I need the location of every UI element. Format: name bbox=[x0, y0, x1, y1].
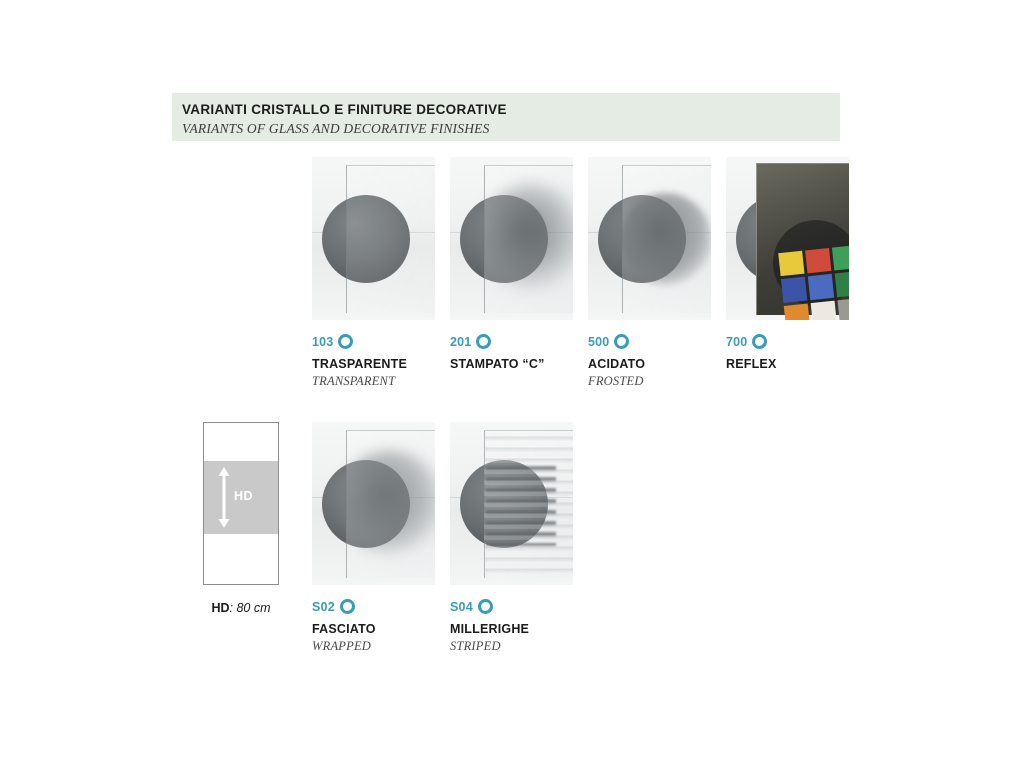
checker-swatch bbox=[835, 271, 849, 297]
checker-swatch bbox=[811, 300, 837, 320]
finish-card-201[interactable]: 201 STAMPATO “C” bbox=[450, 157, 573, 389]
sample-photo-transparent bbox=[312, 157, 435, 320]
checker-swatch bbox=[784, 303, 810, 320]
finish-name-en: FROSTED bbox=[588, 374, 711, 389]
page-subtitle: VARIANTS OF GLASS AND DECORATIVE FINISHE… bbox=[182, 119, 840, 138]
finish-code: 700 bbox=[726, 335, 747, 349]
sample-photo-reflex bbox=[726, 157, 849, 320]
finish-name-en: STRIPED bbox=[450, 639, 573, 654]
glass-drop-icon bbox=[338, 334, 353, 349]
finish-row-2: S02 FASCIATO WRAPPED S04 MIL bbox=[312, 422, 588, 654]
finish-code-line: 500 bbox=[588, 333, 711, 350]
finish-code-line: 700 bbox=[726, 333, 849, 350]
finish-card-500[interactable]: 500 ACIDATO FROSTED bbox=[588, 157, 711, 389]
glass-drop-icon bbox=[340, 599, 355, 614]
finish-code: 500 bbox=[588, 335, 609, 349]
hd-caption: HD: 80 cm bbox=[203, 601, 279, 615]
finish-code-line: 103 bbox=[312, 333, 435, 350]
checker-swatch bbox=[778, 251, 804, 277]
finish-caption: S02 FASCIATO WRAPPED bbox=[312, 598, 435, 654]
sample-photo-millerighe bbox=[450, 422, 573, 585]
hd-caption-value: : 80 cm bbox=[230, 601, 271, 615]
finish-card-s04[interactable]: S04 MILLERIGHE STRIPED bbox=[450, 422, 573, 654]
finish-caption: S04 MILLERIGHE STRIPED bbox=[450, 598, 573, 654]
page-title: VARIANTI CRISTALLO E FINITURE DECORATIVE bbox=[182, 100, 840, 119]
finish-name-it: FASCIATO bbox=[312, 622, 435, 636]
finish-name-it: ACIDATO bbox=[588, 357, 711, 371]
finish-name-en: TRANSPARENT bbox=[312, 374, 435, 389]
finish-card-103[interactable]: 103 TRASPARENTE TRANSPARENT bbox=[312, 157, 435, 389]
checker-swatch bbox=[837, 297, 849, 320]
hd-double-arrow-icon bbox=[218, 467, 230, 528]
finish-name-en bbox=[726, 374, 849, 389]
finish-code: S04 bbox=[450, 600, 473, 614]
finish-name-it: REFLEX bbox=[726, 357, 849, 371]
finish-code: 201 bbox=[450, 335, 471, 349]
finish-caption: 500 ACIDATO FROSTED bbox=[588, 333, 711, 389]
glass-drop-icon bbox=[752, 334, 767, 349]
glass-finishes-page: VARIANTI CRISTALLO E FINITURE DECORATIVE… bbox=[0, 0, 1024, 768]
glass-drop-icon bbox=[478, 599, 493, 614]
checker-swatch bbox=[808, 274, 834, 300]
diffusion-blur bbox=[480, 183, 573, 291]
finish-name-it: STAMPATO “C” bbox=[450, 357, 573, 371]
finish-code-line: S04 bbox=[450, 598, 573, 615]
finish-card-700[interactable]: 700 REFLEX bbox=[726, 157, 849, 389]
stripe-texture bbox=[484, 430, 573, 578]
glass-drop-icon bbox=[476, 334, 491, 349]
finish-name-en bbox=[450, 374, 573, 389]
hd-dimension-diagram: HD HD: 80 cm bbox=[203, 422, 279, 615]
finish-code-line: S02 bbox=[312, 598, 435, 615]
finish-caption: 700 REFLEX bbox=[726, 333, 849, 389]
finish-card-s02[interactable]: S02 FASCIATO WRAPPED bbox=[312, 422, 435, 654]
checker-swatch bbox=[805, 248, 831, 274]
hd-band-label: HD bbox=[234, 489, 253, 503]
finish-code-line: 201 bbox=[450, 333, 573, 350]
sample-photo-acidato bbox=[588, 157, 711, 320]
hd-panel-outline: HD bbox=[203, 422, 279, 585]
glass-pane-transparent bbox=[346, 165, 435, 313]
finish-name-it: MILLERIGHE bbox=[450, 622, 573, 636]
finish-caption: 103 TRASPARENTE TRANSPARENT bbox=[312, 333, 435, 389]
glass-drop-icon bbox=[614, 334, 629, 349]
checker-swatch bbox=[781, 277, 807, 303]
color-checker-chart bbox=[778, 245, 849, 320]
finish-code: S02 bbox=[312, 600, 335, 614]
finish-caption: 201 STAMPATO “C” bbox=[450, 333, 573, 389]
checker-swatch bbox=[832, 245, 849, 271]
finish-name-it: TRASPARENTE bbox=[312, 357, 435, 371]
sample-photo-fasciato bbox=[312, 422, 435, 585]
diffusion-blur bbox=[620, 193, 711, 285]
section-header-band: VARIANTI CRISTALLO E FINITURE DECORATIVE… bbox=[172, 93, 840, 141]
sample-photo-stampato bbox=[450, 157, 573, 320]
finish-code: 103 bbox=[312, 335, 333, 349]
finish-name-en: WRAPPED bbox=[312, 639, 435, 654]
hd-caption-key: HD bbox=[211, 601, 229, 615]
finish-row-1: 103 TRASPARENTE TRANSPARENT 201 STAMP bbox=[312, 157, 864, 389]
diffusion-blur bbox=[338, 450, 435, 554]
